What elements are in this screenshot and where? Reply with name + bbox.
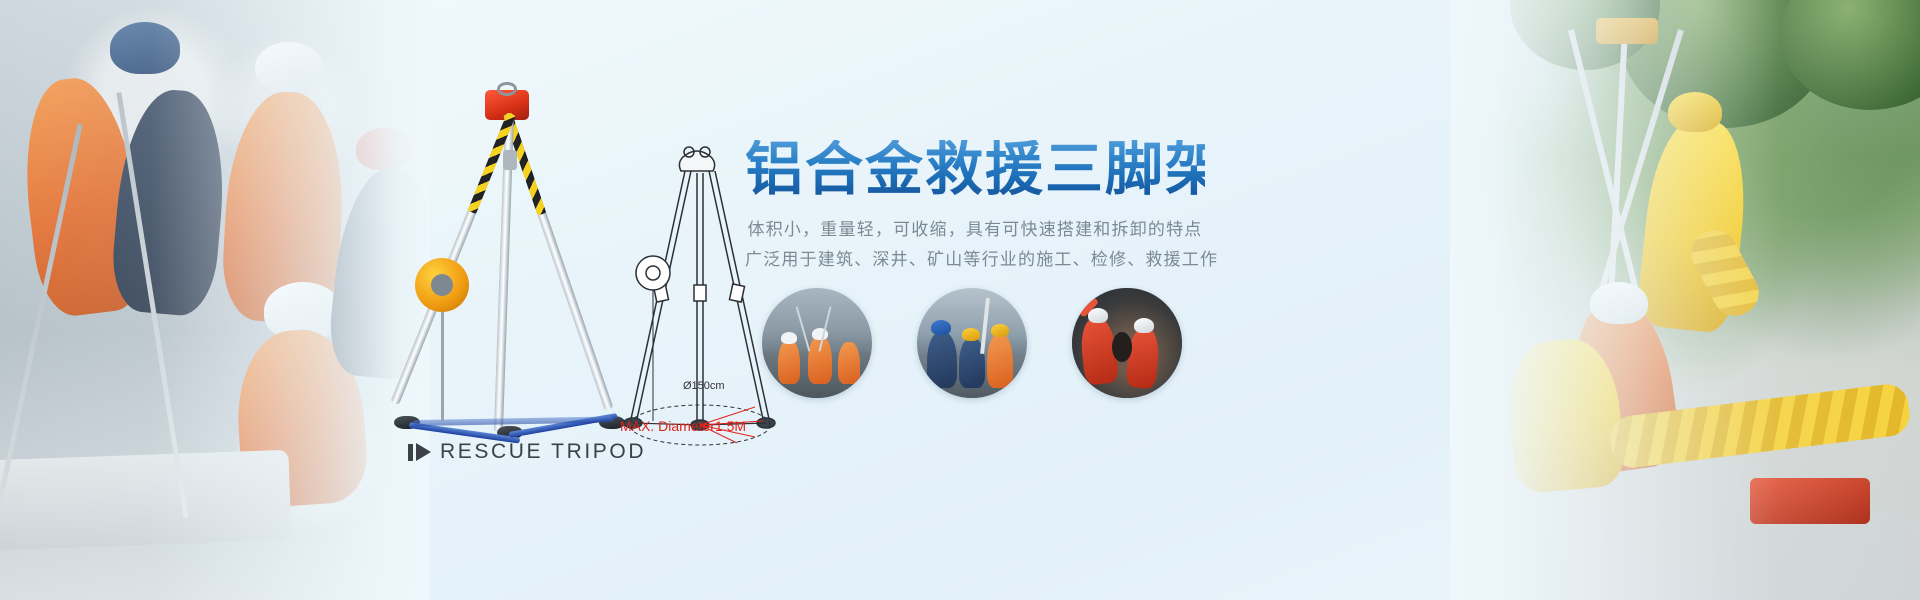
right-scene-image: [1450, 0, 1920, 600]
diameter-label: Ø150cm: [683, 380, 725, 392]
brand-name-text: RESCUE TRIPOD: [440, 440, 646, 464]
product-banner: Ø150cm MAX. Diameter1.5M RESCUE TRIPOD 铝…: [0, 0, 1920, 600]
subtitle-line-1: 体积小，重量轻，可收缩，具有可快速搭建和拆卸的特点: [745, 215, 1205, 245]
brand-lockup: RESCUE TRIPOD: [408, 440, 646, 464]
headline-text-block: 铝合金救援三脚架 体积小，重量轻，可收缩，具有可快速搭建和拆卸的特点 广泛用于建…: [745, 140, 1205, 275]
right-photo-panel: [1450, 0, 1920, 600]
left-photo-panel: [0, 0, 430, 600]
thumbnail-rescue-site-2[interactable]: [917, 288, 1027, 398]
thumbnail-rescue-site-1[interactable]: [762, 288, 872, 398]
subtitle-line-2: 广泛用于建筑、深井、矿山等行业的施工、检修、救援工作: [745, 245, 1205, 275]
left-scene-image: [0, 0, 430, 600]
page-title: 铝合金救援三脚架: [745, 140, 1205, 199]
thumbnail-rescue-site-3[interactable]: [1072, 288, 1182, 398]
thumbnail-gallery: [762, 288, 1182, 398]
max-diameter-label: MAX. Diameter1.5M: [620, 418, 746, 434]
play-mark-icon: [408, 443, 431, 461]
